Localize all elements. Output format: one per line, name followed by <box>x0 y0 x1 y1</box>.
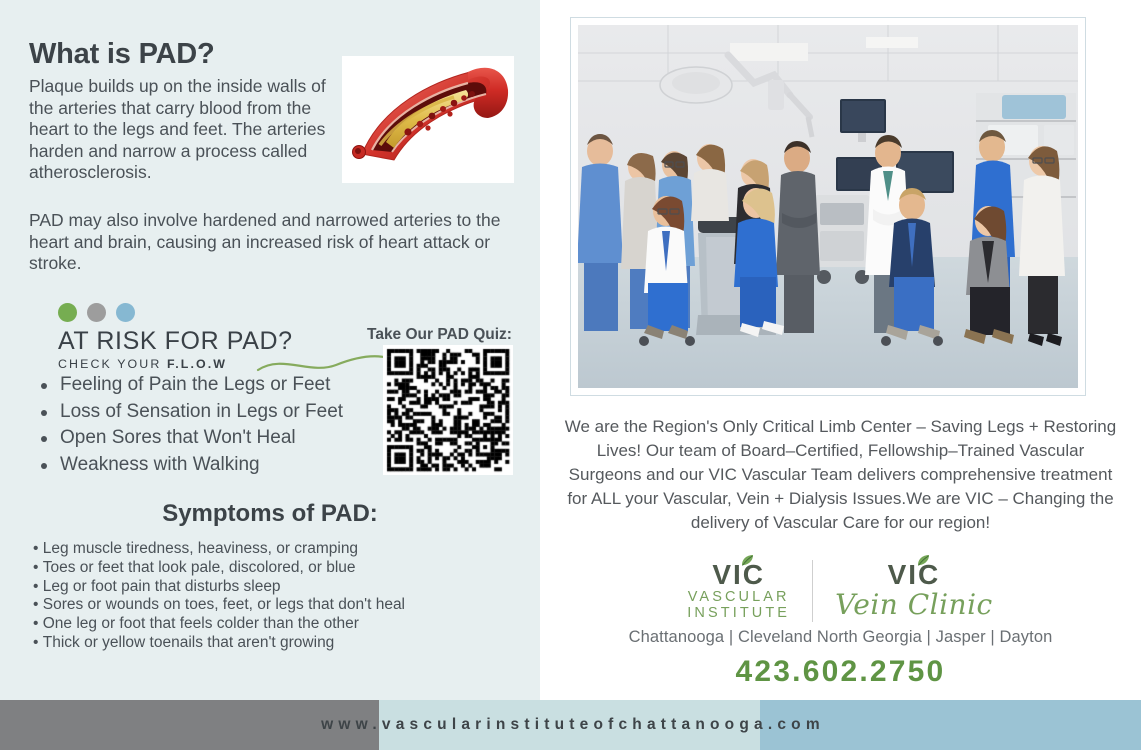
flow-subtitle-bold: F.L.O.W <box>167 357 227 371</box>
flow-logo: AT RISK FOR PAD? CHECK YOUR F.L.O.W <box>58 303 338 373</box>
flow-subtitle-row: CHECK YOUR F.L.O.W <box>58 355 338 373</box>
list-item: Sores or wounds on toes, feet, or legs t… <box>33 596 405 615</box>
footer-bar: www.vascularinstituteofchattanooga.com <box>0 700 1141 750</box>
list-item: Leg or foot pain that disturbs sleep <box>33 578 405 597</box>
artery-icon <box>342 56 514 183</box>
artery-illustration <box>342 56 514 183</box>
mission-blurb: We are the Region's Only Critical Limb C… <box>558 415 1123 535</box>
vein-clinic-script: Vein Clinic <box>835 589 993 621</box>
list-item: Loss of Sensation in Legs or Feet <box>60 399 343 426</box>
intro-paragraph-1: Plaque builds up on the inside walls of … <box>29 76 344 184</box>
leaf-icon <box>916 554 930 567</box>
flow-dots <box>58 303 338 322</box>
risk-factor-list: Feeling of Pain the Legs or Feet Loss of… <box>30 372 343 478</box>
symptoms-title: Symptoms of PAD: <box>0 500 540 528</box>
right-content-column: We are the Region's Only Critical Limb C… <box>540 0 1141 700</box>
list-item: Feeling of Pain the Legs or Feet <box>60 372 343 399</box>
phone-number[interactable]: 423.602.2750 <box>540 655 1141 689</box>
logo-divider <box>812 560 813 622</box>
vascular-institute-logo: VIC VASCULAR INSTITUTE <box>687 561 790 621</box>
vascular-institute-line1: VASCULAR <box>688 589 790 605</box>
team-photo <box>578 25 1078 388</box>
locations-line: Chattanooga | Cleveland North Georgia | … <box>540 628 1141 647</box>
flyer-page: What is PAD? Plaque builds up on the ins… <box>0 0 1141 750</box>
brand-logos: VIC VASCULAR INSTITUTE VIC <box>590 556 1090 626</box>
vic-wordmark: VIC <box>712 561 765 589</box>
symptoms-list: Leg muscle tiredness, heaviness, or cram… <box>33 540 405 653</box>
vic-wordmark-secondary-text: VIC <box>888 559 941 590</box>
intro-paragraph-2: PAD may also involve hardened and narrow… <box>29 210 519 275</box>
list-item: One leg or foot that feels colder than t… <box>33 615 405 634</box>
website-url[interactable]: www.vascularinstituteofchattanooga.com <box>0 700 1141 750</box>
qr-code[interactable] <box>383 345 513 475</box>
quiz-label: Take Our PAD Quiz: <box>367 326 512 344</box>
left-content-column: What is PAD? Plaque builds up on the ins… <box>0 0 540 700</box>
list-item: Thick or yellow toenails that aren't gro… <box>33 634 405 653</box>
flow-subtitle-prefix: CHECK YOUR <box>58 357 167 371</box>
vein-clinic-logo: VIC Vein Clinic <box>835 561 993 621</box>
leaf-icon <box>740 554 754 567</box>
flow-dot-gray <box>87 303 106 322</box>
team-photo-frame <box>570 17 1086 396</box>
vascular-institute-line2: INSTITUTE <box>687 605 790 621</box>
qr-code-image[interactable] <box>383 345 513 475</box>
list-item: Weakness with Walking <box>60 452 343 479</box>
flow-dot-green <box>58 303 77 322</box>
vic-wordmark-secondary: VIC <box>888 561 941 589</box>
list-item: Toes or feet that look pale, discolored,… <box>33 559 405 578</box>
list-item: Leg muscle tiredness, heaviness, or cram… <box>33 540 405 559</box>
flow-dot-blue <box>116 303 135 322</box>
page-title: What is PAD? <box>29 38 215 71</box>
team-photo-illustration <box>578 25 1078 388</box>
list-item: Open Sores that Won't Heal <box>60 425 343 452</box>
vic-wordmark-text: VIC <box>712 559 765 590</box>
